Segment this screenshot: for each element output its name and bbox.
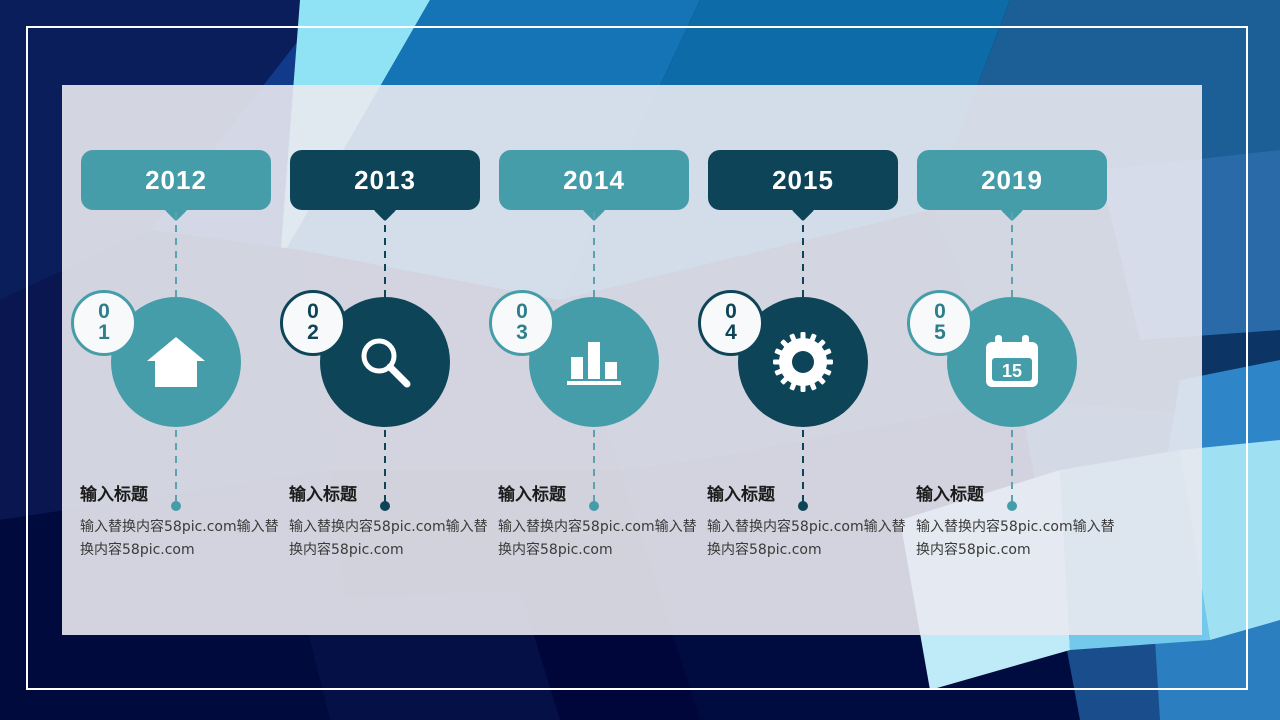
item-body-1: 输入替换内容58pic.com输入替换内容58pic.com <box>80 516 285 562</box>
step-number-3: 0 3 <box>489 290 555 356</box>
connector-top-4 <box>802 212 804 298</box>
year-badge-1[interactable]: 2012 <box>81 150 271 210</box>
text-block-2: 输入标题 输入替换内容58pic.com输入替换内容58pic.com <box>289 480 494 562</box>
year-label-3: 2014 <box>563 165 625 196</box>
year-badge-2[interactable]: 2013 <box>290 150 480 210</box>
text-block-4: 输入标题 输入替换内容58pic.com输入替换内容58pic.com <box>707 480 912 562</box>
step-number-1-top: 0 <box>98 302 110 323</box>
item-title-3: 输入标题 <box>498 480 703 505</box>
connector-top-2 <box>384 212 386 298</box>
text-block-5: 输入标题 输入替换内容58pic.com输入替换内容58pic.com <box>916 480 1121 562</box>
item-title-5: 输入标题 <box>916 480 1121 505</box>
gear-icon <box>772 331 834 393</box>
step-number-4: 0 4 <box>698 290 764 356</box>
search-icon <box>355 332 415 392</box>
step-number-5-top: 0 <box>934 302 946 323</box>
house-icon <box>145 334 207 390</box>
connector-top-3 <box>593 212 595 298</box>
slide-canvas: 2012 0 1 输入标题 <box>0 0 1280 720</box>
content-card: 2012 0 1 输入标题 <box>62 85 1202 635</box>
step-number-1: 0 1 <box>71 290 137 356</box>
step-number-4-top: 0 <box>725 302 737 323</box>
timeline-track: 2012 0 1 输入标题 <box>62 85 1202 635</box>
step-number-5-bottom: 5 <box>934 323 946 344</box>
text-block-1: 输入标题 输入替换内容58pic.com输入替换内容58pic.com <box>80 480 285 562</box>
bar-chart-icon <box>565 335 623 389</box>
item-body-5: 输入替换内容58pic.com输入替换内容58pic.com <box>916 516 1121 562</box>
step-number-3-bottom: 3 <box>516 323 528 344</box>
item-body-2: 输入替换内容58pic.com输入替换内容58pic.com <box>289 516 494 562</box>
timeline-item-1[interactable]: 2012 0 1 输入标题 <box>62 85 290 635</box>
step-number-4-bottom: 4 <box>725 323 737 344</box>
step-number-5: 0 5 <box>907 290 973 356</box>
step-number-1-bottom: 1 <box>98 323 110 344</box>
year-label-1: 2012 <box>145 165 207 196</box>
timeline-item-2[interactable]: 2013 0 2 输入标题 输入替换内容 <box>271 85 499 635</box>
calendar-day-label: 15 <box>1002 361 1022 381</box>
year-label-5: 2019 <box>981 165 1043 196</box>
connector-top-5 <box>1011 212 1013 298</box>
item-title-1: 输入标题 <box>80 480 285 505</box>
timeline-item-5[interactable]: 2019 15 0 5 <box>898 85 1126 635</box>
timeline-item-3[interactable]: 2014 0 3 <box>480 85 708 635</box>
timeline-item-4[interactable]: 2015 <box>689 85 917 635</box>
year-label-2: 2013 <box>354 165 416 196</box>
step-number-2-top: 0 <box>307 302 319 323</box>
calendar-icon: 15 <box>981 333 1043 391</box>
year-label-4: 2015 <box>772 165 834 196</box>
text-block-3: 输入标题 输入替换内容58pic.com输入替换内容58pic.com <box>498 480 703 562</box>
item-body-4: 输入替换内容58pic.com输入替换内容58pic.com <box>707 516 912 562</box>
item-body-3: 输入替换内容58pic.com输入替换内容58pic.com <box>498 516 703 562</box>
connector-top-1 <box>175 212 177 298</box>
item-title-4: 输入标题 <box>707 480 912 505</box>
year-badge-4[interactable]: 2015 <box>708 150 898 210</box>
year-badge-5[interactable]: 2019 <box>917 150 1107 210</box>
step-number-2-bottom: 2 <box>307 323 319 344</box>
step-number-3-top: 0 <box>516 302 528 323</box>
item-title-2: 输入标题 <box>289 480 494 505</box>
step-number-2: 0 2 <box>280 290 346 356</box>
year-badge-3[interactable]: 2014 <box>499 150 689 210</box>
